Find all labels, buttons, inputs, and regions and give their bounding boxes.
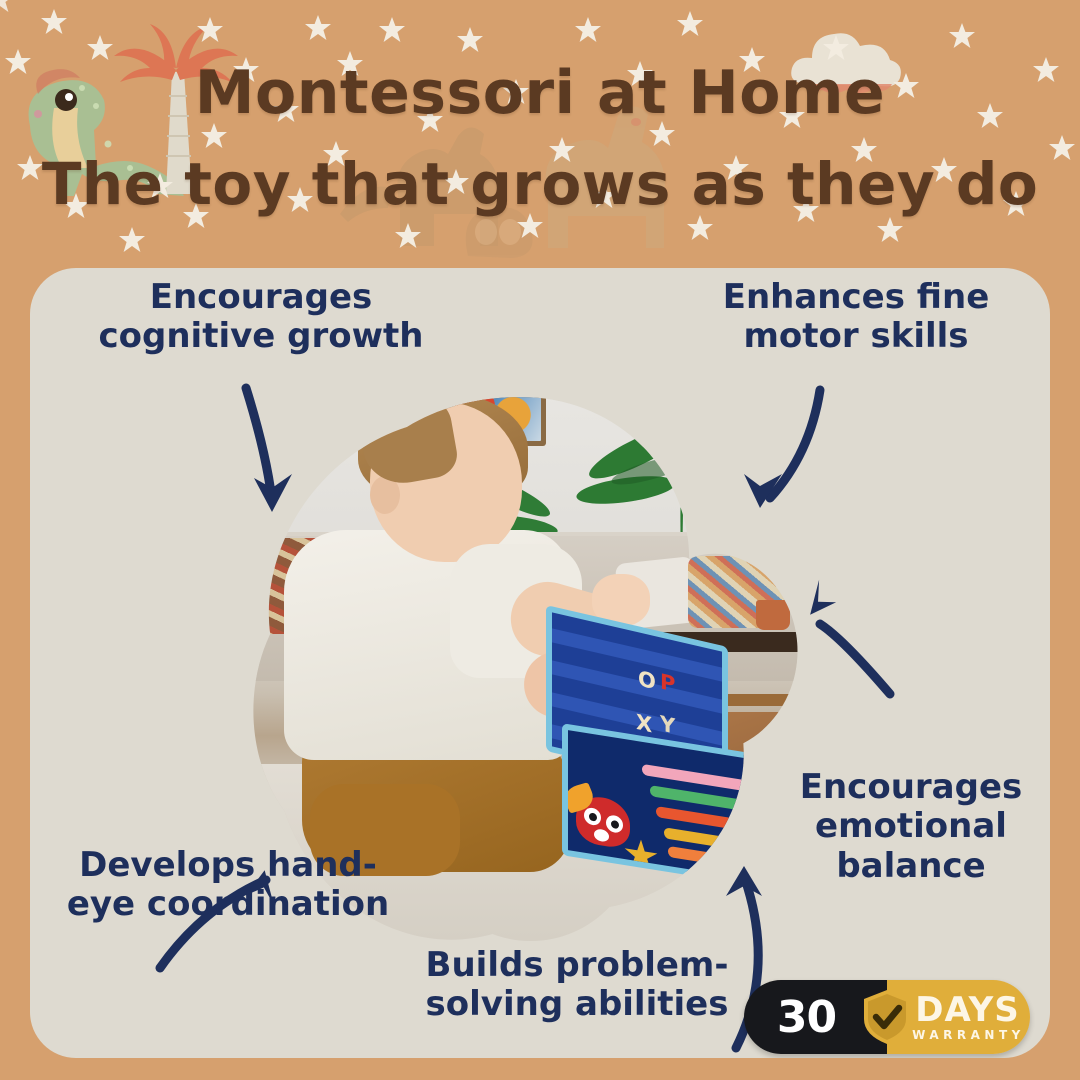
benefit-label-emotional: Encourages emotional balance (770, 768, 1050, 886)
slider-orange (668, 846, 772, 873)
board-letter-p: P (660, 669, 675, 697)
benefit-label-cognitive: Encourages cognitive growth (76, 278, 446, 357)
montessori-busy-board: O P X Y (526, 626, 808, 876)
board-letter-y: Y (660, 711, 675, 739)
shield-check-icon (862, 989, 912, 1045)
board-letter-x: X (636, 710, 652, 738)
octopus-applique (576, 793, 630, 850)
infographic-canvas: Montessori at Home The toy that grows as… (0, 0, 1080, 1080)
header-banner: Montessori at Home The toy that grows as… (0, 0, 1080, 258)
benefit-label-problem: Builds problem- solving abilities (412, 946, 742, 1025)
badge-days-label: DAYS (915, 993, 1019, 1027)
benefit-label-motor: Enhances fine motor skills (680, 278, 1032, 357)
badge-days-count: 30 (777, 992, 836, 1043)
benefits-card: O P X Y (30, 268, 1050, 1058)
benefit-label-handeye: Develops hand- eye coordination (44, 846, 412, 925)
warranty-badge: 30 DAYS WARRANTY (744, 980, 1030, 1054)
badge-warranty-label: WARRANTY (912, 1029, 1025, 1041)
page-subtitle: The toy that grows as they do (0, 150, 1080, 218)
board-letter-o: O (638, 666, 656, 694)
star-applique (624, 837, 658, 874)
arrow-emotional (820, 624, 890, 694)
page-title: Montessori at Home (0, 58, 1080, 128)
board-activity-panel (562, 723, 800, 893)
star-icon-field (0, 0, 1080, 258)
